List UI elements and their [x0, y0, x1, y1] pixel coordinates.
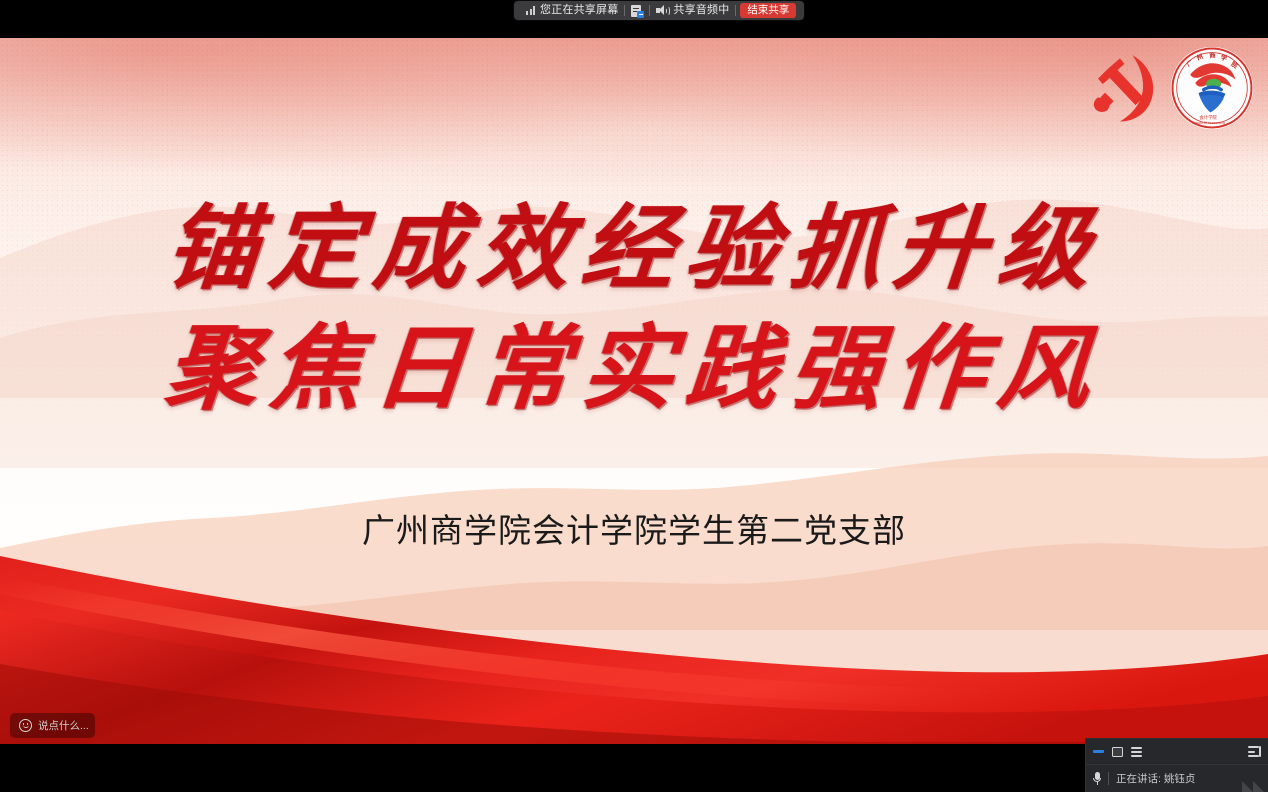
- screen-share-toolbar: 您正在共享屏幕 共享音频中 结束共享: [0, 0, 1268, 38]
- svg-text:School Of Accounting: School Of Accounting: [1193, 121, 1225, 125]
- end-share-button[interactable]: 结束共享: [740, 3, 796, 18]
- letterbox-bottom: [0, 744, 1268, 792]
- emblem-group: 广 州 商 学 院 会计学院 School Of Accounting: [1084, 46, 1254, 130]
- comment-input[interactable]: 说点什么...: [10, 713, 95, 738]
- headline-line-1: 锚定成效经验抓升级: [161, 188, 1108, 308]
- signal-bars-icon: [526, 6, 535, 15]
- school-seal-icon: 广 州 商 学 院 会计学院 School Of Accounting: [1170, 46, 1254, 130]
- toolbar-divider: [735, 5, 736, 16]
- presentation-slide: 广 州 商 学 院 会计学院 School Of Accounting 锚定成效…: [0, 38, 1268, 744]
- audio-share-status[interactable]: 共享音频中: [650, 1, 735, 20]
- meeting-control-panel: 正在讲话: 姚钰贞: [1085, 738, 1268, 792]
- list-view-icon[interactable]: [1131, 747, 1142, 757]
- screen-share-label: 您正在共享屏幕: [540, 1, 618, 20]
- speaker-icon: [656, 5, 668, 16]
- share-status-pill: 您正在共享屏幕 共享音频中 结束共享: [514, 1, 804, 20]
- speaking-label: 正在讲话: 姚钰贞: [1116, 771, 1195, 786]
- audio-share-label: 共享音频中: [673, 1, 729, 20]
- slide-headline: 锚定成效经验抓升级 聚焦日常实践强作风: [0, 188, 1268, 428]
- microphone-icon[interactable]: [1093, 772, 1101, 786]
- minimize-icon[interactable]: [1093, 750, 1104, 753]
- video-thumbnail-placeholder: [1242, 781, 1264, 792]
- comment-placeholder-text: 说点什么...: [38, 718, 89, 733]
- cpc-hammer-sickle-emblem: [1084, 49, 1162, 127]
- annotate-button[interactable]: [625, 1, 649, 20]
- collapse-panel-icon[interactable]: [1248, 746, 1261, 757]
- annotate-document-icon: [631, 5, 643, 17]
- meeting-screen-share-view: 您正在共享屏幕 共享音频中 结束共享: [0, 0, 1268, 792]
- panel-speaking-status: 正在讲话: 姚钰贞: [1086, 765, 1268, 792]
- smiley-icon: [19, 719, 32, 732]
- slide-subtitle: 广州商学院会计学院学生第二党支部: [0, 504, 1268, 552]
- maximize-icon[interactable]: [1112, 747, 1123, 757]
- headline-line-2: 聚焦日常实践强作风: [161, 308, 1108, 428]
- panel-window-controls: [1086, 739, 1268, 765]
- screen-share-status: 您正在共享屏幕: [520, 1, 624, 20]
